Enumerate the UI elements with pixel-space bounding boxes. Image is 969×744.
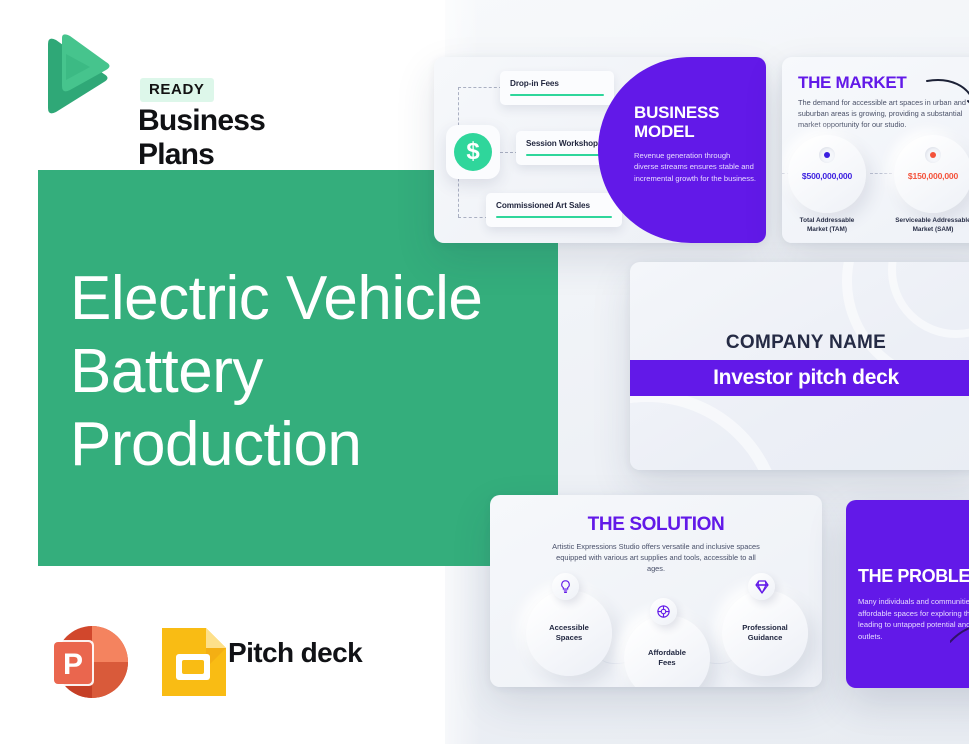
solution-title: THE SOLUTION	[490, 514, 822, 536]
revenue-item-bar	[510, 94, 604, 96]
slide-business-model[interactable]: $ Drop-in Fees Session Workshops Commiss…	[434, 57, 766, 243]
problem-title: THE PROBLEM	[858, 566, 969, 587]
business-model-title: BUSINESS MODEL	[634, 103, 756, 141]
slide-the-market[interactable]: THE MARKET The demand for accessible art…	[782, 57, 969, 243]
brand-badge: READY	[140, 78, 214, 102]
solution-node-label: Professional Guidance	[742, 623, 788, 643]
brand-name: Business Plans	[138, 104, 342, 172]
business-model-accent-panel: BUSINESS MODEL Revenue generation throug…	[598, 57, 766, 243]
format-label: Pitch deck	[228, 637, 362, 669]
investor-pitch-text: Investor pitch deck	[713, 366, 899, 390]
swoosh-decoration-icon	[950, 616, 969, 650]
decorative-ring	[630, 390, 784, 470]
revenue-item-card[interactable]: Commissioned Art Sales	[486, 193, 622, 227]
page-canvas: READY Business Plans Electric Vehicle Ba…	[0, 0, 969, 744]
slide-the-solution[interactable]: THE SOLUTION Artistic Expressions Studio…	[490, 495, 822, 687]
google-slides-icon	[158, 624, 230, 700]
diamond-icon-badge	[748, 573, 775, 600]
company-name-text: COMPANY NAME	[630, 332, 969, 354]
target-icon-badge	[650, 598, 677, 625]
target-icon	[656, 604, 671, 619]
slide-the-problem[interactable]: THE PROBLEM Many individuals and communi…	[846, 500, 969, 688]
market-metric-label: Serviceable Addressable Market (SAM)	[881, 217, 969, 234]
business-model-description: Revenue generation through diverse strea…	[634, 150, 756, 184]
lightbulb-icon-badge	[552, 573, 579, 600]
revenue-item-card[interactable]: Drop-in Fees	[500, 71, 614, 105]
connector-bottom	[458, 217, 488, 218]
solution-node[interactable]: Affordable Fees	[624, 615, 710, 687]
market-title: THE MARKET	[798, 73, 906, 93]
play-triangle-logo-icon	[42, 34, 110, 116]
market-metric-circle: $150,000,000	[894, 135, 969, 213]
solution-node[interactable]: Professional Guidance	[722, 590, 808, 676]
market-metric-label: Total Addressable Market (TAM)	[782, 217, 879, 234]
revenue-item-label: Drop-in Fees	[510, 79, 604, 88]
powerpoint-letter: P	[63, 648, 83, 681]
solution-node-label: Affordable Fees	[648, 648, 686, 668]
page-title: Electric Vehicle Battery Production	[70, 262, 540, 481]
market-metric-value: $500,000,000	[788, 171, 866, 181]
market-metric-value: $150,000,000	[894, 171, 969, 181]
solution-node[interactable]: Accessible Spaces	[526, 590, 612, 676]
market-dash-mid	[870, 173, 892, 174]
market-dot-indicator	[819, 147, 835, 163]
lightbulb-icon	[558, 579, 573, 594]
market-metric-circle: $500,000,000	[788, 135, 866, 213]
brand-logo[interactable]: READY Business Plans	[42, 32, 342, 124]
connector-top	[458, 87, 502, 88]
dollar-icon: $	[454, 133, 492, 171]
powerpoint-icon: P	[40, 616, 132, 708]
solution-description: Artistic Expressions Studio offers versa…	[552, 541, 760, 574]
investor-pitch-band: Investor pitch deck	[630, 360, 969, 396]
revenue-item-label: Commissioned Art Sales	[496, 201, 612, 210]
market-dot-indicator	[925, 147, 941, 163]
slide-company-name[interactable]: COMPANY NAME Investor pitch deck	[630, 262, 969, 470]
revenue-item-bar	[496, 216, 612, 218]
solution-node-label: Accessible Spaces	[549, 623, 589, 643]
diamond-icon	[754, 579, 770, 595]
curved-arrow-icon	[925, 75, 969, 115]
dollar-icon-card: $	[446, 125, 500, 179]
